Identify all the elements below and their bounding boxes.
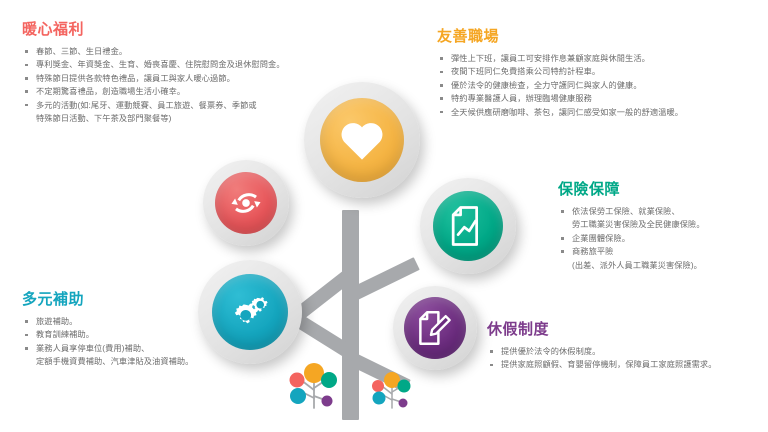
bullet-list-subsidies: 旅遊補助。 教育訓練補助。 業務人員享停車位(費用)補助、 定額手機資費補助、汽… [22,315,272,369]
document-chart-icon [433,191,503,261]
section-heading-friendly-workplace: 友善職場 [437,25,757,46]
infographic-canvas: 暖心福利 春節、三節、生日禮金。 專利獎金、年資獎金、生育、婚喪喜慶、住院慰問金… [0,0,768,432]
bullet-list-warm-benefits: 春節、三節、生日禮金。 專利獎金、年資獎金、生育、婚喪喜慶、住院慰問金及退休慰問… [22,45,352,125]
list-item: 特約專業醫護人員，辦理臨場健康服務 [437,92,757,105]
list-item: 特殊節日提供各款特色禮品，讓員工與家人暖心過節。 [22,72,352,85]
node-leave-policy[interactable] [393,286,477,370]
list-item: 提供優於法令的休假制度。 [487,345,762,358]
edit-document-icon [404,297,466,359]
bullet-list-insurance: 依法保勞工保險、就業保險、 勞工職業災害保險及全民健康保險。 企業團體保險。 商… [558,205,763,272]
section-heading-subsidies: 多元補助 [22,288,272,309]
list-item: 多元的活動(如:尾牙、運動競賽、員工旅遊、餐票券、季節或 特殊節日活動、下午茶及… [22,99,352,126]
node-insurance[interactable] [420,178,516,274]
list-item: 不定期驚喜禮品，創造職場生活小確幸。 [22,85,352,98]
list-item: 企業團體保險。 [558,232,763,245]
section-warm-benefits: 暖心福利 春節、三節、生日禮金。 專利獎金、年資獎金、生育、婚喪喜慶、住院慰問金… [22,18,352,125]
list-item: 教育訓練補助。 [22,328,272,341]
bullet-list-leave-policy: 提供優於法令的休假制度。 提供家庭照顧假、育嬰留停機制，保障員工家庭照護需求。 [487,345,762,372]
list-item: 全天候供應研磨咖啡、茶包，讓同仁感受如家一般的舒適溫暖。 [437,106,757,119]
bullet-list-friendly-workplace: 彈性上下班，讓員工可安排作息兼顧家庭與休閒生活。 夜間下班同仁免費搭乘公司特約計… [437,52,757,119]
section-insurance: 保險保障 依法保勞工保險、就業保險、 勞工職業災害保險及全民健康保險。 企業團體… [558,178,763,272]
list-item: 夜間下班同仁免費搭乘公司特約計程車。 [437,65,757,78]
mini-tree-right [368,366,416,410]
list-item: 專利獎金、年資獎金、生育、婚喪喜慶、住院慰問金及退休慰問金。 [22,58,352,71]
mini-tree-left [284,356,344,410]
list-item: 業務人員享停車位(費用)補助、 定額手機資費補助、汽車津貼及油資補助。 [22,342,272,369]
section-subsidies: 多元補助 旅遊補助。 教育訓練補助。 業務人員享停車位(費用)補助、 定額手機資… [22,288,272,369]
section-heading-insurance: 保險保障 [558,178,763,199]
section-friendly-workplace: 友善職場 彈性上下班，讓員工可安排作息兼顧家庭與休閒生活。 夜間下班同仁免費搭乘… [437,25,757,119]
section-heading-warm-benefits: 暖心福利 [22,18,352,39]
list-item: 春節、三節、生日禮金。 [22,45,352,58]
list-item: 商務旅平險 (出差、派外人員工職業災害保險)。 [558,245,763,272]
node-friendly-workplace[interactable] [203,160,289,246]
list-item: 優於法令的健康檢查，全力守護同仁與家人的健康。 [437,79,757,92]
list-item: 提供家庭照顧假、育嬰留停機制，保障員工家庭照護需求。 [487,358,762,371]
section-heading-leave-policy: 休假制度 [487,318,762,339]
tree-trunk [342,210,359,420]
refresh-cycle-icon [215,172,277,234]
list-item: 依法保勞工保險、就業保險、 勞工職業災害保險及全民健康保險。 [558,205,763,232]
section-leave-policy: 休假制度 提供優於法令的休假制度。 提供家庭照顧假、育嬰留停機制，保障員工家庭照… [487,318,762,372]
list-item: 旅遊補助。 [22,315,272,328]
list-item: 彈性上下班，讓員工可安排作息兼顧家庭與休閒生活。 [437,52,757,65]
